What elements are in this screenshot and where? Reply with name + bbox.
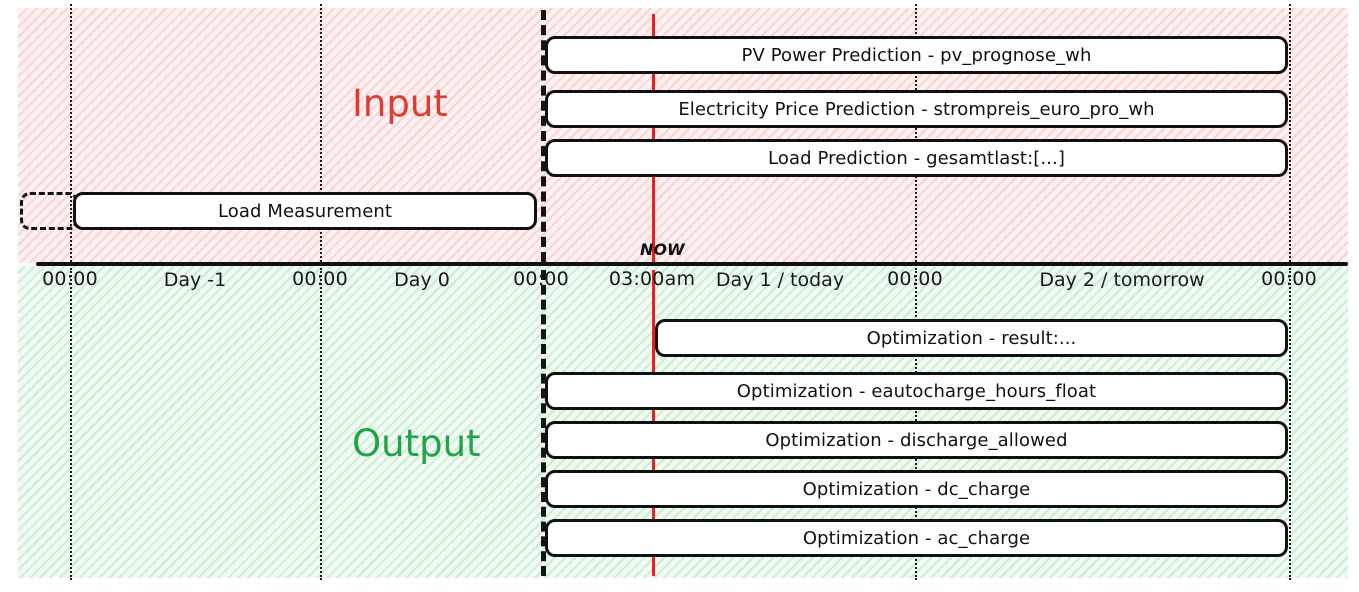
output-bar-label-1: Optimization - eautocharge_hours_float bbox=[737, 381, 1096, 402]
output-bar-label-0: Optimization - result:... bbox=[867, 328, 1077, 349]
input-bar-label-2: Load Prediction - gesamtlast:[...] bbox=[768, 148, 1065, 169]
input-bar-label-1: Electricity Price Prediction - stromprei… bbox=[678, 99, 1154, 120]
output-bar-4[interactable]: Optimization - ac_charge bbox=[545, 519, 1288, 557]
day-label-3: Day 2 / tomorrow bbox=[1039, 269, 1204, 291]
now-label: NOW bbox=[640, 240, 685, 259]
input-bar-0[interactable]: PV Power Prediction - pv_prognose_wh bbox=[545, 36, 1288, 74]
input-bar-3[interactable]: Load Measurement bbox=[73, 192, 537, 230]
tick-label-1: 00:00 bbox=[292, 268, 348, 290]
output-bar-2[interactable]: Optimization - discharge_allowed bbox=[545, 421, 1288, 459]
input-bar-2[interactable]: Load Prediction - gesamtlast:[...] bbox=[545, 139, 1288, 177]
day-boundary-marker-top bbox=[541, 10, 546, 262]
input-section-label: Input bbox=[352, 82, 448, 125]
tick-label-5: 00:00 bbox=[1261, 268, 1317, 290]
input-bar-label-3: Load Measurement bbox=[218, 201, 392, 222]
tick-label-4: 00:00 bbox=[887, 268, 943, 290]
output-bar-1[interactable]: Optimization - eautocharge_hours_float bbox=[545, 372, 1288, 410]
gridline-1-bottom bbox=[320, 268, 322, 580]
gridline-0-bottom bbox=[70, 268, 72, 580]
timeline-diagram: 00:0000:0000:0003:00am00:0000:00 Day -1D… bbox=[0, 0, 1359, 592]
time-axis bbox=[36, 262, 1348, 266]
gridline-3-bottom bbox=[1289, 268, 1291, 580]
input-bar-1[interactable]: Electricity Price Prediction - stromprei… bbox=[545, 90, 1288, 128]
tick-label-3: 03:00am bbox=[609, 268, 695, 290]
input-bar-label-0: PV Power Prediction - pv_prognose_wh bbox=[742, 45, 1092, 66]
tick-label-2: 00:00 bbox=[513, 268, 569, 290]
output-bar-label-4: Optimization - ac_charge bbox=[803, 528, 1030, 549]
output-bar-3[interactable]: Optimization - dc_charge bbox=[545, 470, 1288, 508]
output-bar-0[interactable]: Optimization - result:... bbox=[655, 319, 1288, 357]
day-label-2: Day 1 / today bbox=[716, 269, 844, 291]
day-label-1: Day 0 bbox=[394, 269, 450, 291]
output-section-label: Output bbox=[352, 422, 481, 465]
day-boundary-marker-bottom bbox=[541, 270, 546, 576]
output-bar-label-3: Optimization - dc_charge bbox=[803, 479, 1031, 500]
gridline-3-top bbox=[1289, 4, 1291, 262]
load-measurement-ghost-bar bbox=[20, 192, 78, 230]
output-bar-label-2: Optimization - discharge_allowed bbox=[765, 430, 1067, 451]
tick-label-0: 00:00 bbox=[42, 268, 98, 290]
day-label-0: Day -1 bbox=[164, 269, 227, 291]
